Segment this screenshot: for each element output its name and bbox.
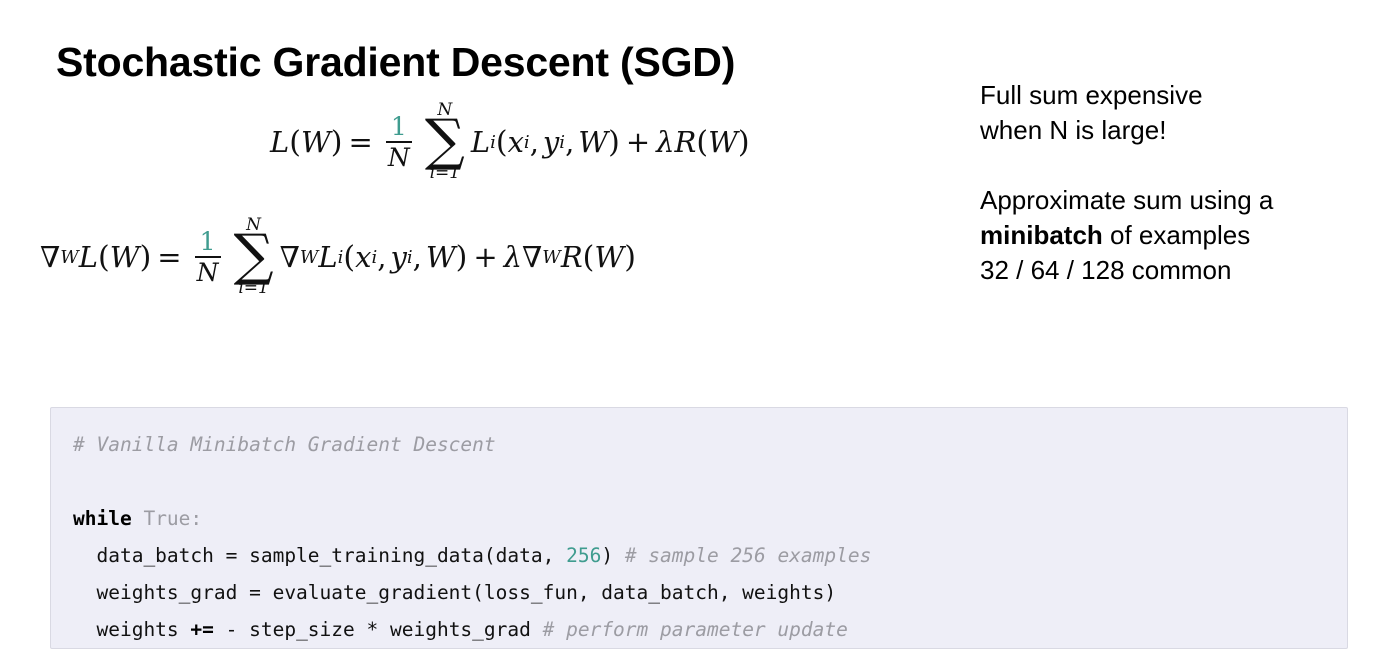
- formula-grad-fraction: 1 N: [195, 229, 221, 285]
- formula-grad-W2: W: [426, 240, 456, 274]
- formula-loss-rparen1: ): [331, 125, 343, 160]
- formula-loss-lambda: λ: [656, 125, 674, 159]
- formula-grad-Li: L: [318, 240, 337, 274]
- formula-grad-frac-numerator: 1: [200, 229, 216, 256]
- note-spacer: [980, 148, 1360, 183]
- formula-loss-R: R: [675, 125, 697, 159]
- code-line-1: [73, 463, 1325, 500]
- formula-loss-lparen1: (: [289, 125, 301, 160]
- code-line-5: weights += - step_size * weights_grad # …: [73, 611, 1325, 648]
- formula-grad-y: y: [390, 240, 406, 274]
- formula-loss-L: L: [270, 125, 289, 159]
- formula-loss-lparen2: (: [496, 125, 508, 160]
- formula-grad-lparen1: (: [98, 240, 110, 275]
- formula-grad-W3: W: [594, 240, 624, 274]
- code-token-cm: # sample 256 examples: [613, 544, 871, 567]
- formula-grad-rparen1: ): [140, 240, 152, 275]
- code-block: # Vanilla Minibatch Gradient Descentwhil…: [50, 407, 1348, 649]
- nabla-icon: ∇: [280, 240, 300, 274]
- formula-grad-lparen2: (: [343, 240, 355, 275]
- code-token-pl: data_batch = sample_training_data(data,: [73, 544, 566, 567]
- note-approx-post: of examples: [1103, 220, 1250, 250]
- formula-grad-L: L: [79, 240, 98, 274]
- formula-grad-nabla-sub1: W: [60, 247, 79, 268]
- formula-grad-summation: N ∑ i=1: [234, 217, 274, 296]
- formula-loss-rparen3: ): [738, 125, 750, 160]
- formula-grad-comma1: ,: [377, 240, 390, 274]
- formula-grad-frac-denominator: N: [197, 258, 219, 285]
- formula-grad-rparen2: ): [456, 240, 468, 275]
- formula-grad-R: R: [561, 240, 583, 274]
- formula-loss-Li: L: [471, 125, 490, 159]
- code-token-op: +=: [190, 618, 213, 641]
- note-full-sum-line2: when N is large!: [980, 113, 1360, 148]
- formula-grad-lambda: λ: [504, 240, 522, 274]
- nabla-icon: ∇: [522, 240, 542, 274]
- note-full-sum-line1: Full sum expensive: [980, 78, 1360, 113]
- code-token-pl: weights: [73, 618, 190, 641]
- formula-grad-nabla-sub2: W: [300, 247, 319, 268]
- formula-loss-frac-denominator: N: [388, 143, 410, 170]
- note-approx-bold: minibatch: [980, 220, 1103, 250]
- formula-grad-sum-lower: i=1: [238, 280, 269, 297]
- formula-loss-rparen2: ): [608, 125, 620, 160]
- formula-grad-comma2: ,: [413, 240, 426, 274]
- formula-loss-W1: W: [301, 125, 331, 159]
- code-token-pl: ): [601, 544, 613, 567]
- code-line-4: weights_grad = evaluate_gradient(loss_fu…: [73, 574, 1325, 611]
- formula-grad-nabla-sub3: W: [542, 247, 561, 268]
- code-token-num: 256: [566, 544, 601, 567]
- page-title: Stochastic Gradient Descent (SGD): [56, 35, 735, 89]
- summation-icon: ∑: [234, 232, 274, 280]
- note-approx-pre: Approximate sum using a: [980, 185, 1273, 215]
- formula-loss-equals: =: [343, 125, 379, 159]
- formula-loss-comma1: ,: [530, 125, 543, 159]
- code-token-cm: # perform parameter update: [531, 618, 848, 641]
- formula-gradient: ∇WL(W) = 1 N N ∑ i=1 ∇WLi(xi,yi,W) + λ∇W…: [40, 198, 950, 316]
- notes-panel: Full sum expensive when N is large! Appr…: [980, 78, 1360, 288]
- code-line-2: while True:: [73, 500, 1325, 537]
- formula-loss: L(W) = 1 N N ∑ i=1 Li(xi,yi,W) + λR(W): [270, 92, 950, 192]
- formula-loss-frac-numerator: 1: [391, 114, 407, 141]
- formula-loss-sum-lower: i=1: [430, 165, 461, 182]
- formula-loss-x: x: [508, 125, 524, 159]
- formula-loss-comma2: ,: [565, 125, 578, 159]
- formula-grad-rparen3: ): [624, 240, 636, 275]
- code-token-pl: - step_size * weights_grad: [214, 618, 531, 641]
- formula-loss-y: y: [543, 125, 559, 159]
- formula-grad-equals: =: [151, 240, 187, 274]
- formula-grad-W1: W: [110, 240, 140, 274]
- formula-loss-lparen3: (: [696, 125, 708, 160]
- formula-loss-plus: +: [620, 125, 656, 159]
- code-token-bi: True:: [143, 507, 202, 530]
- nabla-icon: ∇: [40, 240, 60, 274]
- formula-grad-x: x: [355, 240, 371, 274]
- note-approximate-sum: Approximate sum using a minibatch of exa…: [980, 183, 1360, 253]
- formula-grad-lparen3: (: [583, 240, 595, 275]
- formula-loss-W3: W: [708, 125, 738, 159]
- code-token-cm: # Vanilla Minibatch Gradient Descent: [73, 433, 496, 456]
- formula-loss-W2: W: [578, 125, 608, 159]
- code-token-pl: weights_grad = evaluate_gradient(loss_fu…: [73, 581, 836, 604]
- code-line-0: # Vanilla Minibatch Gradient Descent: [73, 426, 1325, 463]
- note-batch-sizes: 32 / 64 / 128 common: [980, 253, 1360, 288]
- formula-loss-fraction: 1 N: [386, 114, 412, 170]
- summation-icon: ∑: [425, 117, 465, 165]
- formula-loss-summation: N ∑ i=1: [425, 102, 465, 181]
- note-full-sum: Full sum expensive when N is large!: [980, 78, 1360, 148]
- formula-block: L(W) = 1 N N ∑ i=1 Li(xi,yi,W) + λR(W) ∇…: [40, 92, 950, 316]
- code-line-3: data_batch = sample_training_data(data, …: [73, 537, 1325, 574]
- formula-grad-plus: +: [467, 240, 503, 274]
- code-token-kw: while: [73, 507, 143, 530]
